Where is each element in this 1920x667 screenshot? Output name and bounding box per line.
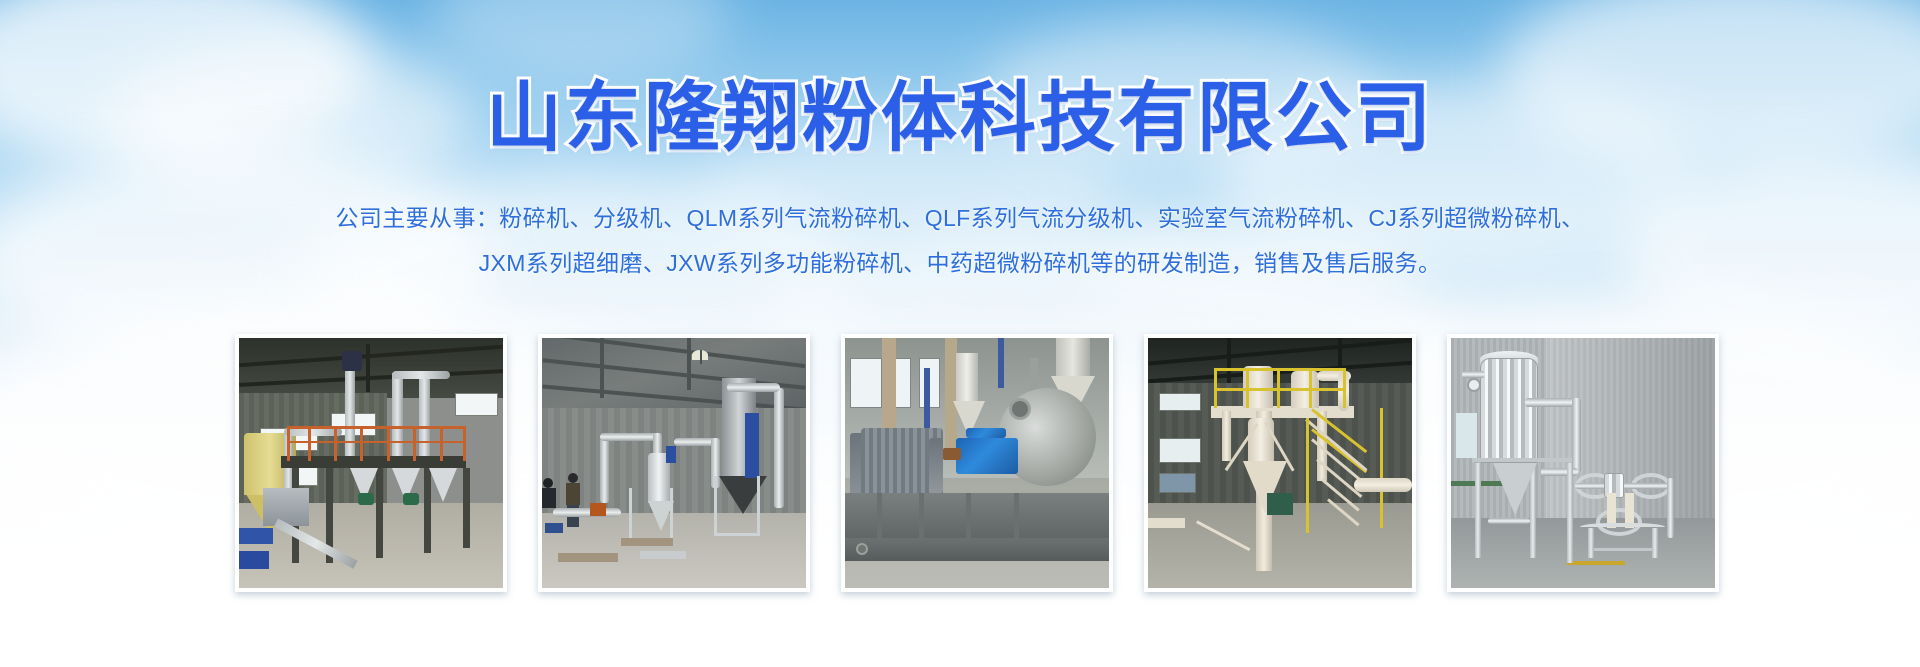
- gallery-photo-5[interactable]: [1447, 334, 1719, 592]
- intro-line-1: 公司主要从事：粉碎机、分级机、QLM系列气流粉碎机、QLF系列气流分级机、实验室…: [0, 196, 1920, 241]
- intro-line-2: JXM系列超细磨、JXW系列多功能粉碎机、中药超微粉碎机等的研发制造，销售及售后…: [0, 241, 1920, 286]
- gallery-photo-3[interactable]: [841, 334, 1113, 592]
- photo-3-image: [845, 338, 1109, 588]
- page-title: 山东隆翔粉体科技有限公司: [0, 56, 1920, 166]
- gallery-photo-2[interactable]: [538, 334, 810, 592]
- photo-5-image: [1451, 338, 1715, 588]
- gallery-photo-1[interactable]: [235, 334, 507, 592]
- photo-2-image: [542, 338, 806, 588]
- worker-figure: [566, 473, 582, 533]
- photo-1-image: [239, 338, 503, 588]
- gallery-photo-4[interactable]: [1144, 334, 1416, 592]
- photo-4-image: [1148, 338, 1412, 588]
- product-photo-gallery: [235, 334, 1719, 592]
- company-intro-text: 公司主要从事：粉碎机、分级机、QLM系列气流粉碎机、QLF系列气流分级机、实验室…: [0, 196, 1920, 286]
